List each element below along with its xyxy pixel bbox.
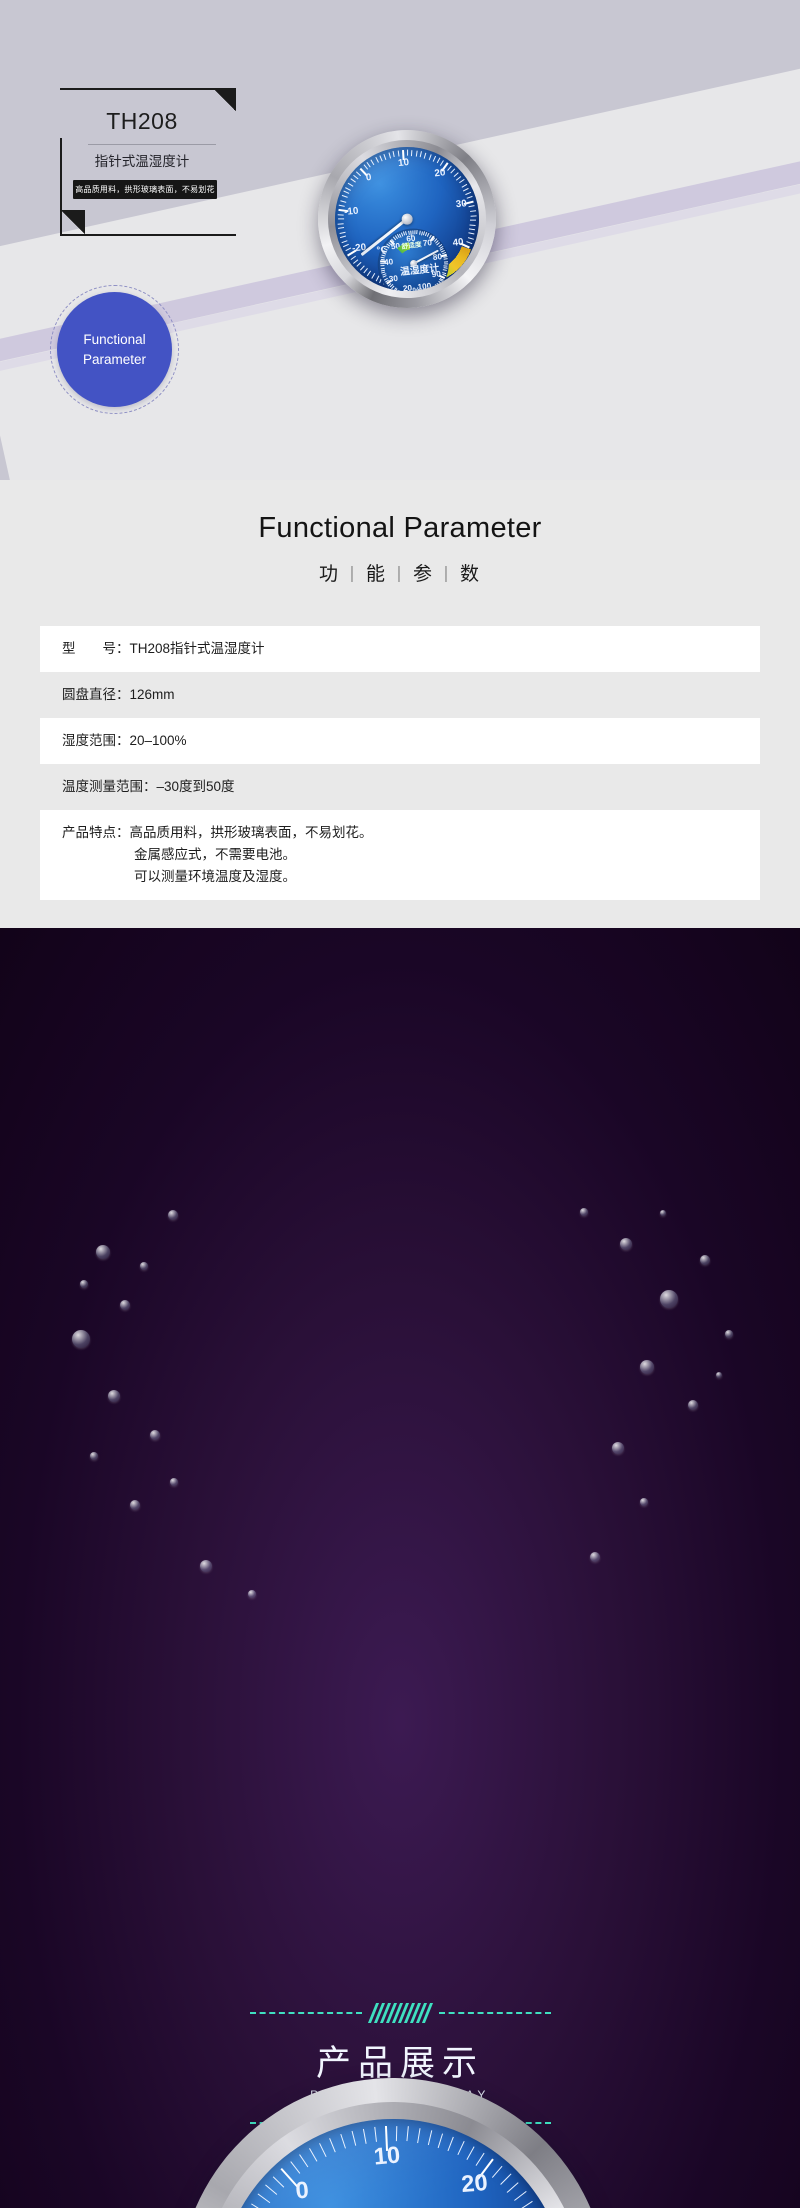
tick-minor xyxy=(500,2174,511,2185)
spec-value: TH208指针式温湿度计 xyxy=(130,641,265,656)
hero-title-frame: TH208 指针式温湿度计 高品质用料，拱形玻璃表面，不易划花 xyxy=(48,88,236,236)
temperature-tick-label: 0 xyxy=(295,2178,310,2206)
feature-line-2: 金属感应式，不需要电池。 xyxy=(62,844,738,866)
table-row: 圆盘直径：126mm xyxy=(40,672,760,718)
tick-minor xyxy=(340,200,346,203)
functional-parameter-badge: Functional Parameter xyxy=(57,292,172,407)
tick-major xyxy=(402,150,404,160)
tick-minor xyxy=(252,2203,265,2208)
tick-minor xyxy=(398,150,400,156)
spec-value: –30度到50度 xyxy=(157,779,235,794)
tick-minor xyxy=(339,204,345,206)
tick-minor xyxy=(329,2138,335,2152)
subtitle-separator: ｜ xyxy=(434,567,460,584)
tick-major xyxy=(281,2168,299,2188)
table-row: 温度测量范围：–30度到50度 xyxy=(40,764,760,810)
water-droplet xyxy=(590,1552,600,1562)
spec-label: 温度测量范围： xyxy=(62,776,157,798)
table-row: 湿度范围：20–100% xyxy=(40,718,760,764)
water-droplet xyxy=(612,1442,624,1454)
water-droplet xyxy=(120,1300,130,1310)
tick-minor xyxy=(273,2176,284,2187)
table-row-features: 产品特点：高品质用料，拱形玻璃表面，不易划花。 金属感应式，不需要电池。 可以测… xyxy=(40,810,760,900)
temperature-tick-label: 10 xyxy=(398,157,410,169)
tick-minor xyxy=(417,2128,420,2143)
tick-minor xyxy=(290,2161,300,2173)
product-model-name: 指针式温湿度计 xyxy=(48,150,236,170)
tick-minor xyxy=(345,248,351,252)
tick-minor xyxy=(448,2137,454,2151)
gauge-body: -30-20-10010203040502030405060708090100舒… xyxy=(309,121,505,317)
water-droplet xyxy=(130,1500,140,1510)
tick-minor xyxy=(340,236,346,239)
decoration-top xyxy=(0,2003,800,2023)
temperature-tick-label: 0 xyxy=(365,172,372,184)
dashed-line-right xyxy=(439,2012,551,2014)
water-droplet xyxy=(150,1430,160,1440)
temperature-needle-hub xyxy=(401,213,413,225)
badge-line-1: Functional xyxy=(83,330,145,350)
tick-major xyxy=(385,2126,388,2151)
temperature-tick-label: 10 xyxy=(373,2143,402,2172)
tick-minor xyxy=(450,169,455,174)
tick-minor xyxy=(428,154,431,160)
tick-minor xyxy=(351,2131,356,2145)
water-droplet xyxy=(248,1590,256,1598)
spec-label: 型 号： xyxy=(62,638,130,660)
badge-line-2: Parameter xyxy=(83,350,146,370)
product-display-section: 产品展示 PRODUCT DISPLAY -30-20-100102030405… xyxy=(0,928,800,2208)
tick-minor xyxy=(356,171,361,176)
humidity-comfort-label: 舒适度 xyxy=(401,239,422,251)
feature-line-3: 可以测量环境温度及湿度。 xyxy=(62,866,738,888)
tick-minor xyxy=(420,151,422,157)
tick-minor xyxy=(363,165,368,170)
spec-value: 20–100% xyxy=(130,733,187,748)
spec-label: 圆盘直径： xyxy=(62,684,130,706)
subtitle-char: 能 xyxy=(366,564,387,585)
tick-minor xyxy=(338,227,344,229)
tick-minor xyxy=(342,240,348,243)
frame-top-line xyxy=(60,88,236,90)
tick-minor xyxy=(432,156,435,162)
water-droplet xyxy=(620,1238,632,1250)
tick-minor xyxy=(350,179,356,183)
table-row: 型 号：TH208指针式温湿度计 xyxy=(40,626,760,672)
tick-minor xyxy=(424,152,427,158)
temperature-tick-label: 20 xyxy=(434,167,446,179)
tick-minor xyxy=(258,2194,270,2203)
tick-major xyxy=(441,162,448,171)
tick-minor xyxy=(436,158,440,164)
tick-minor xyxy=(440,160,444,166)
tick-minor xyxy=(407,150,408,156)
tick-minor xyxy=(388,152,391,158)
thermometer-hygrometer-hero: -30-20-10010203040502030405060708090100舒… xyxy=(309,121,505,317)
subtitle-separator: ｜ xyxy=(340,567,366,584)
tick-minor xyxy=(384,154,387,160)
spec-label: 湿度范围： xyxy=(62,730,130,752)
tick-minor xyxy=(374,2127,377,2142)
water-droplet xyxy=(200,1560,212,1572)
hero-section: TH208 指针式温湿度计 高品质用料，拱形玻璃表面，不易划花 Function… xyxy=(0,0,800,480)
tick-minor xyxy=(371,159,375,165)
tick-minor xyxy=(447,166,452,171)
tick-major xyxy=(478,2159,494,2180)
water-droplet xyxy=(170,1478,178,1486)
features-label: 产品特点： xyxy=(62,822,130,844)
tick-minor xyxy=(353,175,358,180)
tick-minor xyxy=(343,191,349,194)
water-droplet xyxy=(90,1452,98,1460)
tick-minor xyxy=(367,162,371,168)
water-droplet xyxy=(80,1280,88,1288)
tick-minor xyxy=(396,2126,397,2141)
tick-minor xyxy=(456,176,461,181)
product-detail-page: TH208 指针式温湿度计 高品质用料，拱形玻璃表面，不易划花 Function… xyxy=(0,0,800,2208)
spec-value: 126mm xyxy=(130,687,175,702)
tick-minor xyxy=(338,214,344,215)
product-feature-tag: 高品质用料，拱形玻璃表面，不易划花 xyxy=(73,180,217,199)
water-droplet xyxy=(108,1390,120,1402)
water-droplet xyxy=(660,1290,678,1308)
tick-minor xyxy=(427,2130,431,2144)
tick-minor xyxy=(356,262,361,267)
subtitle-char: 功 xyxy=(319,564,340,585)
tick-minor xyxy=(319,2143,326,2157)
tick-minor xyxy=(520,2200,533,2208)
tick-minor xyxy=(343,244,349,247)
tick-minor xyxy=(459,179,465,183)
specs-title: Functional Parameter xyxy=(0,480,800,545)
tick-minor xyxy=(514,2191,526,2201)
tick-minor xyxy=(309,2148,317,2161)
tick-minor xyxy=(393,151,395,157)
tick-minor xyxy=(457,2141,464,2155)
subtitle-char: 数 xyxy=(460,564,481,585)
tick-minor xyxy=(507,2182,519,2192)
water-droplet xyxy=(96,1245,110,1259)
water-droplet xyxy=(140,1262,148,1270)
tick-minor xyxy=(467,2147,475,2160)
tick-minor xyxy=(375,157,379,163)
specs-table: 型 号：TH208指针式温湿度计 圆盘直径：126mm 湿度范围：20–100%… xyxy=(40,626,760,900)
tick-minor xyxy=(265,2185,277,2195)
subtitle-separator: ｜ xyxy=(387,567,413,584)
tick-minor xyxy=(379,155,382,161)
water-droplet xyxy=(725,1330,733,1338)
tick-minor xyxy=(438,2133,443,2147)
tick-minor xyxy=(348,183,354,187)
water-droplet xyxy=(700,1255,710,1265)
frame-bottom-line xyxy=(60,234,236,236)
temperature-color-band xyxy=(258,2151,582,2208)
tick-minor xyxy=(338,219,344,220)
tick-minor xyxy=(453,172,458,177)
tick-minor xyxy=(338,223,344,224)
specifications-section: Functional Parameter 功｜能｜参｜数 型 号：TH208指针… xyxy=(0,480,800,928)
water-droplet xyxy=(72,1330,90,1348)
temperature-tick-label: -10 xyxy=(344,205,359,217)
tick-minor xyxy=(411,150,412,156)
subtitle-char: 参 xyxy=(413,564,434,585)
gauge-dial: -30-20-10010203040502030405060708090100舒… xyxy=(204,2104,581,2208)
water-droplet xyxy=(640,1360,654,1374)
tick-minor xyxy=(476,2152,485,2165)
water-droplet xyxy=(640,1498,648,1506)
dashed-line-left xyxy=(250,2012,362,2014)
tick-minor xyxy=(339,232,345,234)
tick-minor xyxy=(342,195,348,198)
product-model-code: TH208 xyxy=(48,108,236,135)
gauge-dial: -30-20-10010203040502030405060708090100舒… xyxy=(328,140,486,298)
water-droplet xyxy=(580,1208,588,1216)
title-divider xyxy=(88,144,216,145)
water-droplet xyxy=(168,1210,178,1220)
tick-minor xyxy=(353,259,358,264)
tick-major xyxy=(359,168,367,177)
tick-minor xyxy=(340,2134,346,2148)
tick-minor xyxy=(492,2166,502,2178)
temperature-tick-label: 20 xyxy=(460,2170,489,2199)
frame-corner-triangle-bottom-left xyxy=(61,210,85,234)
tick-minor xyxy=(362,2128,366,2143)
tick-minor xyxy=(350,255,356,259)
slash-group xyxy=(372,2003,429,2023)
feature-line-1: 高品质用料，拱形玻璃表面，不易划花。 xyxy=(130,825,373,840)
tick-minor xyxy=(299,2154,308,2167)
decoration-row xyxy=(0,2003,800,2023)
specs-subtitle: 功｜能｜参｜数 xyxy=(0,559,800,586)
water-droplet xyxy=(688,1400,698,1410)
water-droplet xyxy=(716,1372,722,1378)
tick-minor xyxy=(407,2127,409,2142)
tick-minor xyxy=(416,150,418,156)
product-feature-tag-text: 高品质用料，拱形玻璃表面，不易划花 xyxy=(75,184,214,195)
water-droplet xyxy=(660,1210,666,1216)
tick-minor xyxy=(345,187,351,191)
temperature-unit: ℃ xyxy=(376,244,388,256)
